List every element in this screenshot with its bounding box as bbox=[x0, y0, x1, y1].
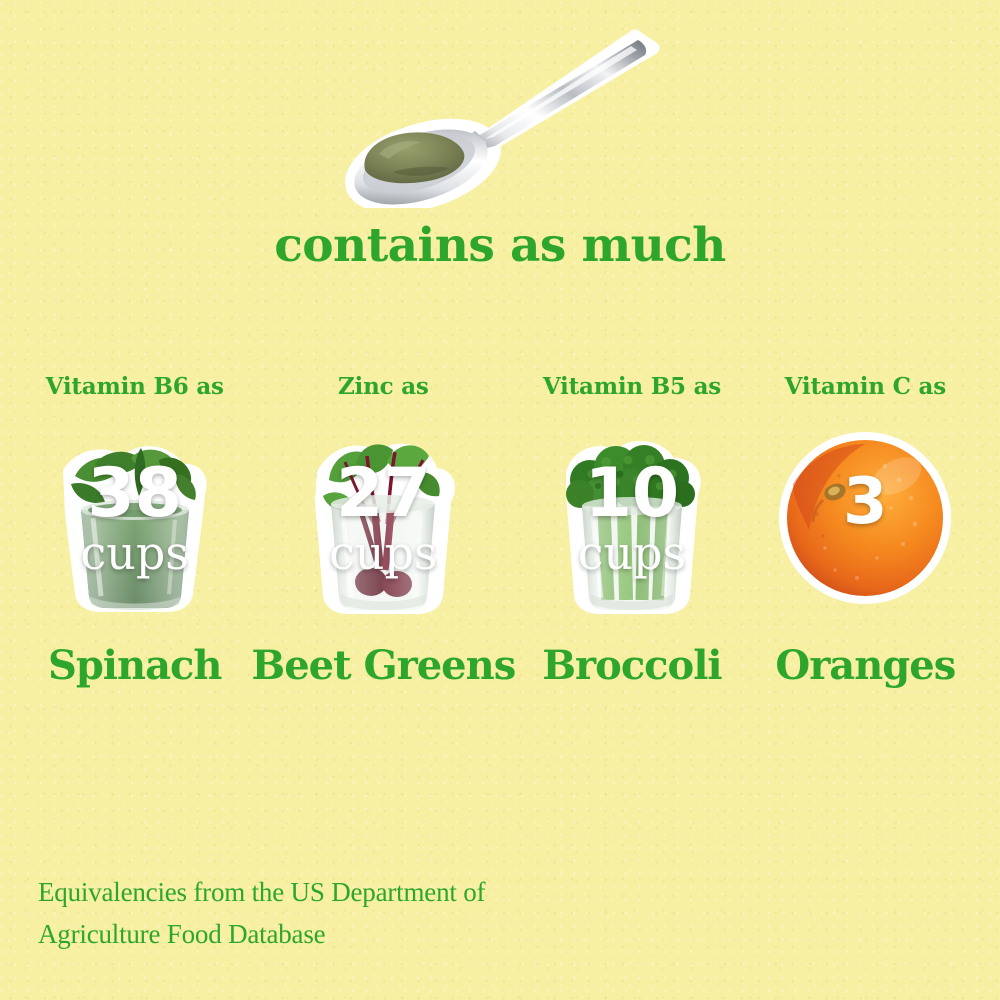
equivalency-columns: Vitamin B6 as bbox=[0, 372, 1000, 689]
nutrient-label-vitamin-b6: Vitamin B6 as bbox=[46, 372, 224, 402]
amount-value-broccoli: 10 bbox=[532, 460, 732, 528]
amount-value-beet-greens: 27 bbox=[283, 460, 483, 528]
amount-value-oranges: 3 bbox=[765, 470, 965, 534]
spoon-with-green-powder-icon bbox=[335, 20, 665, 208]
column-oranges: Vitamin C as bbox=[749, 372, 982, 689]
amount-value-spinach: 38 bbox=[35, 460, 235, 528]
nutrient-label-zinc: Zinc as bbox=[338, 372, 429, 402]
food-name-oranges: Oranges bbox=[775, 642, 955, 689]
nutrient-label-vitamin-b5: Vitamin B5 as bbox=[543, 372, 721, 402]
food-name-broccoli: Broccoli bbox=[542, 642, 721, 689]
figure-beet-greens: 27 cups bbox=[283, 418, 483, 618]
page-title: contains as much bbox=[0, 218, 1000, 273]
column-broccoli: Vitamin B5 as bbox=[515, 372, 748, 689]
food-name-beet-greens: Beet Greens bbox=[251, 642, 515, 689]
food-name-spinach: Spinach bbox=[48, 642, 222, 689]
nutrient-label-vitamin-c: Vitamin C as bbox=[785, 372, 946, 402]
figure-broccoli: 10 cups bbox=[532, 418, 732, 618]
source-note-line-1: Equivalencies from the US Department of bbox=[38, 872, 678, 914]
source-note-line-2: Agriculture Food Database bbox=[38, 914, 678, 956]
figure-oranges: 3 bbox=[765, 418, 965, 618]
amount-unit-broccoli: cups bbox=[532, 530, 732, 576]
column-spinach: Vitamin B6 as bbox=[18, 372, 251, 689]
figure-spinach: 38 cups bbox=[35, 418, 235, 618]
amount-unit-beet-greens: cups bbox=[283, 530, 483, 576]
source-note: Equivalencies from the US Department of … bbox=[38, 872, 678, 956]
spoon-illustration bbox=[0, 14, 1000, 210]
column-beet-greens: Zinc as bbox=[251, 372, 515, 689]
amount-unit-spinach: cups bbox=[35, 530, 235, 576]
